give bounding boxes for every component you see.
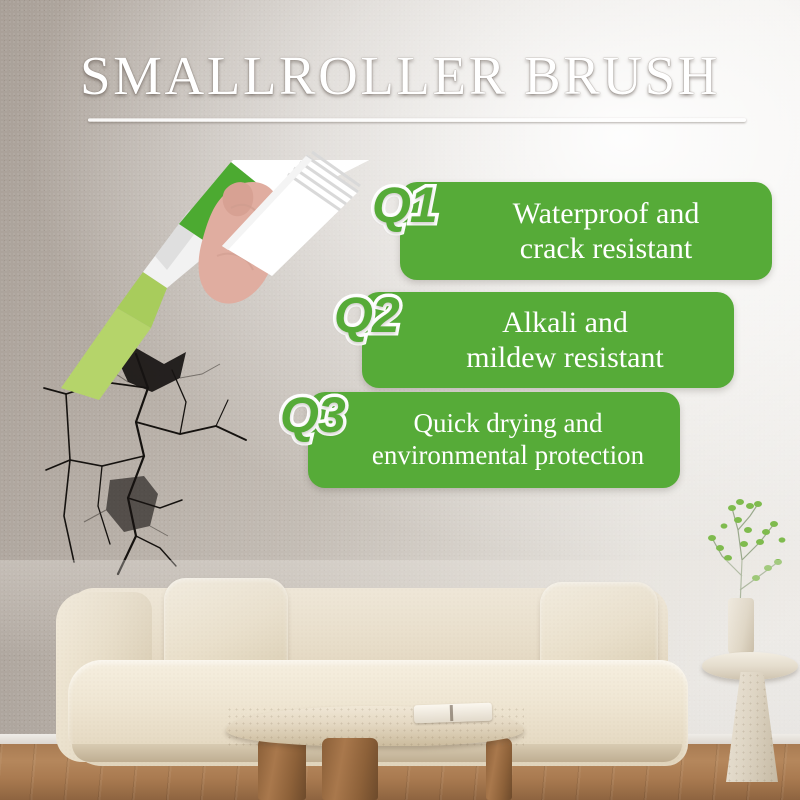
feature-banner-q1[interactable]: Waterproof and crack resistant — [400, 182, 772, 280]
feature-banner-q2[interactable]: Alkali and mildew resistant — [362, 292, 734, 388]
feature-text-q2: Alkali and mildew resistant — [418, 305, 677, 376]
feature-banner-q3[interactable]: Quick drying and environmental protectio… — [308, 392, 680, 488]
poster-canvas: SMALLROLLER BRUSH Waterproof and crack r… — [0, 0, 800, 800]
title-underline — [88, 118, 746, 122]
feature-line: Quick drying and — [372, 408, 644, 440]
coffee-table-leg — [258, 738, 306, 800]
open-book-icon — [414, 703, 493, 724]
page-title: SMALLROLLER BRUSH — [0, 44, 800, 107]
feature-line: Alkali and — [466, 305, 663, 340]
potted-branch-plant-icon — [688, 490, 798, 610]
coffee-table-leg — [486, 738, 512, 800]
coffee-table-leg — [322, 738, 378, 800]
feature-text-q1: Waterproof and crack resistant — [459, 196, 714, 267]
badge-q2: Q2 — [334, 286, 399, 344]
tube-crimped-end-icon — [200, 150, 380, 280]
badge-q1: Q1 — [372, 176, 437, 234]
badge-q3: Q3 — [280, 386, 345, 444]
feature-line: mildew resistant — [466, 340, 663, 375]
feature-text-q3: Quick drying and environmental protectio… — [336, 408, 652, 472]
feature-line: Waterproof and — [513, 196, 700, 231]
vase-icon — [728, 598, 754, 656]
feature-line: crack resistant — [513, 231, 700, 266]
feature-line: environmental protection — [372, 440, 644, 472]
